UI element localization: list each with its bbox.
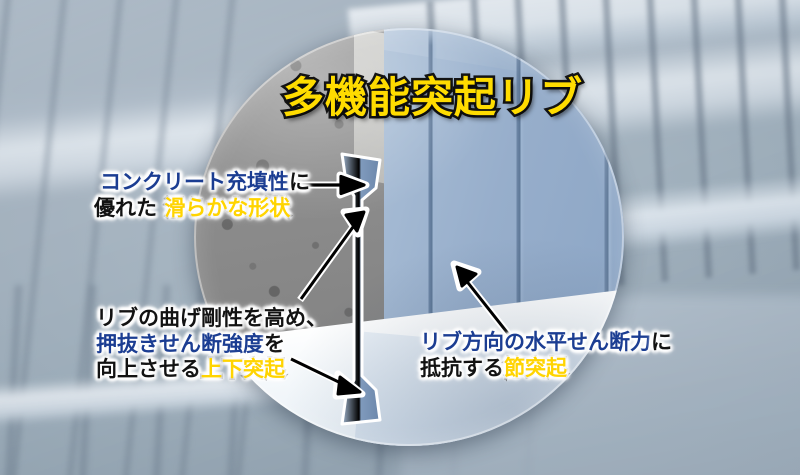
callout-segment: 押抜きせん断強度 [96,332,264,356]
callout-segment-highlight: 滑らかな形状 [164,196,290,220]
callout-segment: に [651,330,672,354]
callout-segment: 優れた [94,196,157,220]
callout-line: リブ方向の水平せん断力に [420,330,672,356]
page-title: 多機能突起リブ [282,64,583,125]
callout-line: 抵抗する節突起 [420,356,672,382]
callout-line: 優れた 滑らかな形状 [94,196,310,222]
callout-segment: 抵抗する [420,356,504,380]
callout-concrete-fillability: コンクリート充填性に 優れた 滑らかな形状 [94,170,310,221]
callout-segment: 向上させる [96,357,201,381]
callout-line: 押抜きせん断強度を [96,332,327,358]
callout-line: 向上させる上下突起 [96,357,327,383]
callout-segment-highlight: 節突起 [504,356,567,380]
callout-segment: コンクリート充填性 [100,170,289,194]
callout-segment: リブの曲げ剛性を高め、 [96,306,327,330]
callout-segment: リブ方向の水平せん断力 [420,330,651,354]
callout-line: リブの曲げ剛性を高め、 [96,306,327,332]
callout-line: コンクリート充填性に [94,170,310,196]
feature-illustration-canvas: 多機能突起リブ コンクリート充填性に 優れた 滑らかな形状 リブの曲げ剛性を高め… [0,0,800,475]
callout-node-protrusion: リブ方向の水平せん断力に 抵抗する節突起 [420,330,672,381]
callout-segment: に [289,170,310,194]
callout-segment: を [264,332,285,356]
callout-segment-highlight: 上下突起 [201,357,285,381]
callout-bending-stiffness: リブの曲げ剛性を高め、 押抜きせん断強度を 向上させる上下突起 [96,306,327,383]
